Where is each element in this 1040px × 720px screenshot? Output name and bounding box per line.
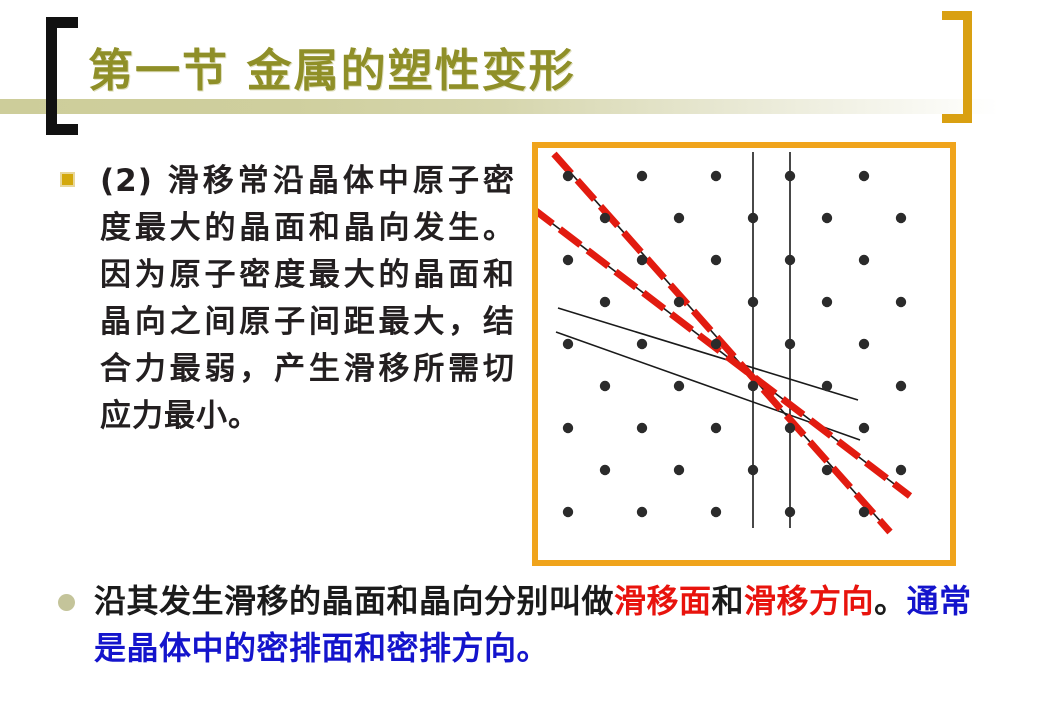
footer-paragraph-text: 沿其发生滑移的晶面和晶向分别叫做滑移面和滑移方向。通常是晶体中的密排面和密排方向… [52, 578, 1002, 672]
atom-dot [785, 507, 795, 517]
atom-dot [748, 381, 758, 391]
square-bullet-icon [60, 172, 75, 187]
atom-dot [896, 297, 906, 307]
atom-dot [785, 339, 795, 349]
atom-dot [637, 255, 647, 265]
lattice-diagram-frame [532, 142, 956, 566]
bracket-left-decoration [46, 17, 78, 135]
atom-dot [637, 423, 647, 433]
atom-dot [785, 171, 795, 181]
slip-plane-lines [538, 154, 910, 532]
atom-dot [822, 465, 832, 475]
atom-dot [674, 381, 684, 391]
atom-dot [600, 213, 610, 223]
atom-dot [600, 465, 610, 475]
atom-dot [785, 423, 795, 433]
atom-dot [896, 381, 906, 391]
footer-segment-2: 和 [712, 582, 745, 620]
footer-segment-4: 。 [874, 582, 907, 620]
page-title: 第一节 金属的塑性变形 [88, 34, 576, 99]
body-paragraph-block: (2) 滑移常沿晶体中原子密度最大的晶面和晶向发生。因为原子密度最大的晶面和晶向… [55, 158, 515, 440]
footer-paragraph-block: 沿其发生滑移的晶面和晶向分别叫做滑移面和滑移方向。通常是晶体中的密排面和密排方向… [52, 578, 1002, 672]
atom-dot [563, 339, 573, 349]
atom-dot [748, 465, 758, 475]
atom-dot [859, 171, 869, 181]
atom-dot [563, 507, 573, 517]
title-underline-band [0, 99, 1040, 114]
atom-dot [785, 255, 795, 265]
footer-segment-0: 沿其发生滑移的晶面和晶向分别叫做 [94, 582, 614, 620]
vertical-plane-lines [753, 152, 790, 528]
atom-dot [748, 213, 758, 223]
atom-dot [859, 255, 869, 265]
atom-dot [563, 171, 573, 181]
atom-dot [637, 507, 647, 517]
atom-dot [896, 465, 906, 475]
atom-dot [711, 423, 721, 433]
atom-dot [563, 255, 573, 265]
atom-dot [600, 381, 610, 391]
lattice-diagram-svg [538, 148, 950, 560]
atom-dot [822, 297, 832, 307]
atom-dot [711, 255, 721, 265]
atom-dot [859, 507, 869, 517]
footer-segment-1: 滑移面 [614, 582, 712, 620]
round-bullet-icon [58, 594, 75, 611]
slide-header: 第一节 金属的塑性变形 [0, 0, 1040, 140]
atom-dot [822, 381, 832, 391]
atom-dot [896, 213, 906, 223]
atom-dot [859, 423, 869, 433]
atom-dot [563, 423, 573, 433]
bracket-right-decoration [942, 11, 972, 123]
atom-dot [637, 171, 647, 181]
atom-dot [711, 171, 721, 181]
body-paragraph-text: (2) 滑移常沿晶体中原子密度最大的晶面和晶向发生。因为原子密度最大的晶面和晶向… [55, 158, 515, 440]
atom-dot [711, 507, 721, 517]
atom-dot [600, 297, 610, 307]
atom-dot [859, 339, 869, 349]
atom-dot [637, 339, 647, 349]
atom-dot [674, 297, 684, 307]
atom-dot [674, 213, 684, 223]
atom-dot [822, 213, 832, 223]
atom-dot [674, 465, 684, 475]
close-packed-plane-1 [554, 154, 890, 532]
close-packed-plane-2 [538, 208, 910, 496]
footer-segment-3: 滑移方向 [744, 582, 874, 620]
atom-dot [748, 297, 758, 307]
atom-dot [711, 339, 721, 349]
